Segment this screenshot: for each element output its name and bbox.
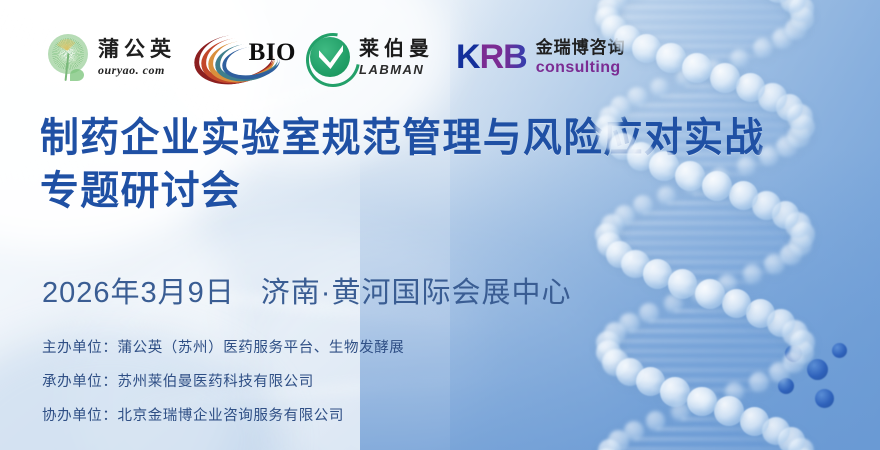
- dna-rung: [612, 231, 797, 235]
- dna-rung: [609, 15, 802, 19]
- organizer-coorganizer: 协办单位：北京金瑞博企业咨询服务有限公司: [42, 404, 404, 425]
- organizer-list: 主办单位：蒲公英（苏州）医药服务平台、生物发酵展 承办单位：苏州莱伯曼医药科技有…: [42, 336, 404, 425]
- krb-letter-k: K: [456, 38, 480, 76]
- dna-bead: [736, 73, 765, 102]
- organizer-host: 主办单位：蒲公英（苏州）医药服务平台、生物发酵展: [42, 336, 404, 357]
- krb-wordmark: KRB: [456, 40, 527, 74]
- krb-logo-en: consulting: [536, 60, 626, 76]
- organizer-operator: 承办单位：苏州莱伯曼医药科技有限公司: [42, 370, 404, 391]
- dna-bead: [660, 377, 690, 407]
- dandelion-icon: [40, 29, 94, 85]
- dna-bead: [646, 411, 665, 430]
- logo-labman: 莱伯曼 LABMAN: [310, 26, 434, 88]
- dandelion-logo-cn: 蒲公英: [98, 39, 176, 60]
- dna-bead: [639, 303, 659, 323]
- dandelion-logo-en: ouryao. com: [98, 64, 176, 76]
- molecule-node: [815, 389, 834, 408]
- title-line-1: 制药企业实验室规范管理与风险应对实战: [40, 112, 826, 165]
- dna-bead: [656, 43, 686, 73]
- event-venue: 济南·黄河国际会展中心: [261, 269, 572, 311]
- event-date: 2026年3月9日: [42, 269, 235, 311]
- dna-rung: [625, 221, 786, 225]
- logo-dandelion-ouryao: 蒲公英 ouryao. com: [40, 26, 176, 88]
- molecule-node: [832, 343, 847, 358]
- logo-bar: 蒲公英 ouryao. com BIO 莱伯曼 LABMAN: [40, 26, 626, 88]
- poster-title: 制药企业实验室规范管理与风险应对实战 专题研讨会: [40, 112, 850, 218]
- dna-bead: [695, 279, 725, 309]
- dna-bead: [710, 63, 740, 93]
- dna-rung: [617, 5, 793, 9]
- dna-rung: [634, 437, 775, 441]
- dna-bead: [675, 161, 705, 191]
- logo-bio: BIO: [176, 26, 294, 88]
- bio-logo-text: BIO: [249, 39, 296, 67]
- logo-krb-consulting: KRB 金瑞博咨询 consulting: [456, 26, 626, 88]
- bio-swoosh-icon: BIO: [194, 31, 294, 83]
- dna-bead: [668, 269, 698, 299]
- labman-leaf-icon: [310, 37, 350, 77]
- labman-logo-en: LABMAN: [359, 63, 434, 76]
- dna-bead: [743, 264, 762, 283]
- krb-letter-b: B: [503, 38, 527, 76]
- dna-rung: [607, 241, 803, 245]
- dna-rung: [656, 427, 755, 431]
- molecule-node: [807, 359, 828, 380]
- dna-bead: [740, 407, 769, 436]
- event-date-venue: 2026年3月9日 济南·黄河国际会展中心: [42, 269, 571, 311]
- dna-bead: [749, 372, 769, 392]
- dna-bead: [657, 186, 676, 205]
- labman-logo-cn: 莱伯曼: [359, 39, 434, 59]
- dna-bead: [753, 38, 773, 58]
- dna-rung: [608, 349, 802, 353]
- conference-poster: 蒲公英 ouryao. com BIO 莱伯曼 LABMAN: [0, 0, 880, 450]
- dna-rung: [615, 339, 795, 343]
- dna-bead: [682, 53, 712, 83]
- dna-rung: [629, 329, 780, 333]
- dna-bead: [702, 171, 732, 201]
- dna-rung: [638, 103, 773, 107]
- krb-letter-r: R: [480, 38, 504, 76]
- dna-bead: [737, 156, 756, 175]
- dna-rung: [649, 319, 760, 323]
- dna-bead: [687, 387, 717, 417]
